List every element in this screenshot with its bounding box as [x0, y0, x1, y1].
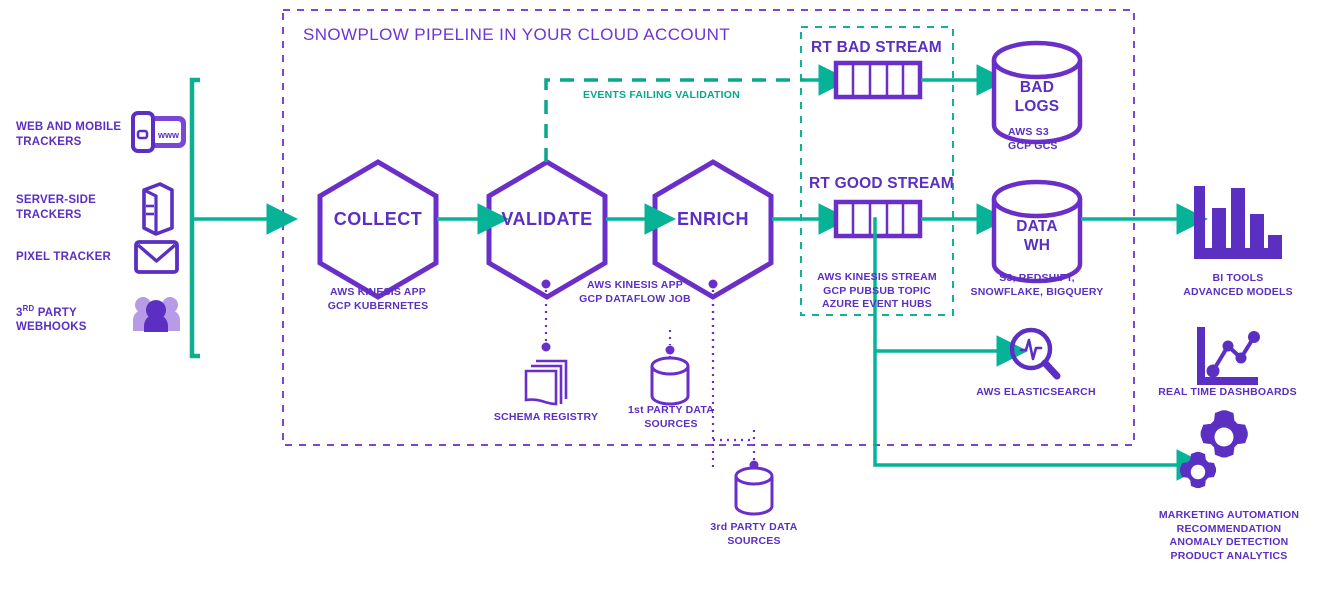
label-line2: RECOMMENDATION: [1177, 523, 1282, 535]
sub-line2: GCP DATAFLOW JOB: [579, 293, 691, 305]
bad-logs-label: BAD LOGS: [994, 78, 1080, 116]
hexagon-label-collect: COLLECT: [320, 209, 436, 230]
first-party-cylinder-icon: [652, 358, 688, 404]
magnifier-pulse-icon: [1012, 330, 1057, 376]
bad-logs-sub: AWS S3 GCP GCS: [975, 126, 1132, 153]
hexagon-label-enrich: ENRICH: [655, 209, 771, 230]
dashboards-label: REAL TIME DASHBOARDS: [1140, 386, 1315, 400]
label-line2: SOURCES: [727, 535, 780, 547]
server-icon: [144, 184, 172, 234]
rt-good-stream-queue[interactable]: [836, 202, 920, 236]
diagram-canvas: www SNOWPLOW PIPELINE IN YOUR CLOUD ACCO…: [0, 0, 1317, 592]
bi-tools-label: BI TOOLS ADVANCED MODELS: [1153, 272, 1317, 299]
sub-line1: AWS KINESIS STREAM: [817, 271, 937, 283]
label-line1: MARKETING AUTOMATION: [1159, 509, 1299, 521]
label-line1: BI TOOLS: [1213, 272, 1264, 284]
sub-line1: S3, REDSHIFT,: [999, 272, 1075, 284]
source-label-line2: TRACKERS: [16, 136, 82, 148]
sub-line2: GCP GCS: [1008, 140, 1058, 152]
sub-line3: AZURE EVENT HUBS: [822, 298, 932, 310]
sub-line2: GCP KUBERNETES: [328, 300, 429, 312]
bar-chart-icon: [1194, 186, 1282, 259]
source-label-ordinal: 3: [16, 307, 23, 319]
source-label-line1: PIXEL TRACKER: [16, 251, 111, 263]
source-label-webhooks: 3RD PARTY WEBHOOKS: [16, 302, 126, 335]
source-label-ordinal-rest: PARTY: [34, 307, 77, 319]
events-failing-validation-label: EVENTS FAILING VALIDATION: [583, 89, 803, 101]
elasticsearch-label: AWS ELASTICSEARCH: [960, 386, 1112, 400]
hexagon-sub-collect: AWS KINESIS APP GCP KUBERNETES: [318, 286, 438, 313]
label-line4: PRODUCT ANALYTICS: [1171, 550, 1288, 562]
people-icon: [133, 297, 180, 332]
rt-bad-stream-queue[interactable]: [836, 63, 920, 97]
source-label-line2: WEBHOOKS: [16, 321, 87, 333]
label-line2: SOURCES: [644, 418, 697, 430]
devices-icon: www: [133, 113, 184, 151]
svg-text:www: www: [157, 130, 180, 140]
envelope-icon: [136, 242, 177, 272]
automation-label: MARKETING AUTOMATION RECOMMENDATION ANOM…: [1140, 509, 1317, 563]
source-label-line1: SERVER-SIDE: [16, 194, 96, 206]
source-label-line1: WEB AND MOBILE: [16, 121, 121, 133]
sub-line2: SNOWFLAKE, BIGQUERY: [971, 286, 1104, 298]
third-party-label: 3rd PARTY DATA SOURCES: [699, 521, 809, 548]
source-label-line2: TRACKERS: [16, 209, 82, 221]
third-party-cylinder-icon: [736, 468, 772, 514]
first-party-label: 1st PARTY DATA SOURCES: [616, 404, 726, 431]
label-line1: BAD: [1020, 79, 1054, 96]
documents-stack-icon: [526, 361, 566, 404]
label-line2: ADVANCED MODELS: [1183, 286, 1293, 298]
gears-icon: [1180, 410, 1248, 488]
hexagon-sub-validate: AWS KINESIS APP GCP DATAFLOW JOB: [570, 279, 700, 306]
label-line2: LOGS: [1015, 98, 1060, 115]
label-line1: DATA: [1016, 218, 1058, 235]
sub-line1: AWS S3: [1008, 126, 1049, 138]
label-line2: WH: [1024, 237, 1050, 254]
third-party-connector: [713, 430, 759, 470]
data-wh-label: DATA WH: [994, 217, 1080, 255]
label-line3: ANOMALY DETECTION: [1170, 536, 1289, 548]
data-wh-sub: S3, REDSHIFT, SNOWFLAKE, BIGQUERY: [962, 272, 1112, 299]
rt-bad-stream-title: RT BAD STREAM: [811, 39, 961, 57]
label-line1: 3rd PARTY DATA: [710, 521, 797, 533]
line-chart-icon: [1201, 331, 1260, 381]
source-label-server-side: SERVER-SIDE TRACKERS: [16, 193, 126, 222]
rt-good-stream-title: RT GOOD STREAM: [809, 175, 959, 193]
source-label-ordinal-suffix: RD: [23, 304, 35, 313]
sub-line2: GCP PUBSUB TOPIC: [823, 285, 931, 297]
rt-good-stream-sub: AWS KINESIS STREAM GCP PUBSUB TOPIC AZUR…: [806, 271, 948, 312]
sub-line1: AWS KINESIS APP: [330, 286, 426, 298]
label-line1: 1st PARTY DATA: [628, 404, 714, 416]
page-title: SNOWPLOW PIPELINE IN YOUR CLOUD ACCOUNT: [303, 25, 803, 45]
hexagon-label-validate: VALIDATE: [489, 209, 605, 230]
source-label-web-mobile: WEB AND MOBILE TRACKERS: [16, 120, 126, 149]
source-label-pixel-tracker: PIXEL TRACKER: [16, 250, 134, 265]
sub-line1: AWS KINESIS APP: [587, 279, 683, 291]
schema-registry-label: SCHEMA REGISTRY: [476, 411, 616, 425]
